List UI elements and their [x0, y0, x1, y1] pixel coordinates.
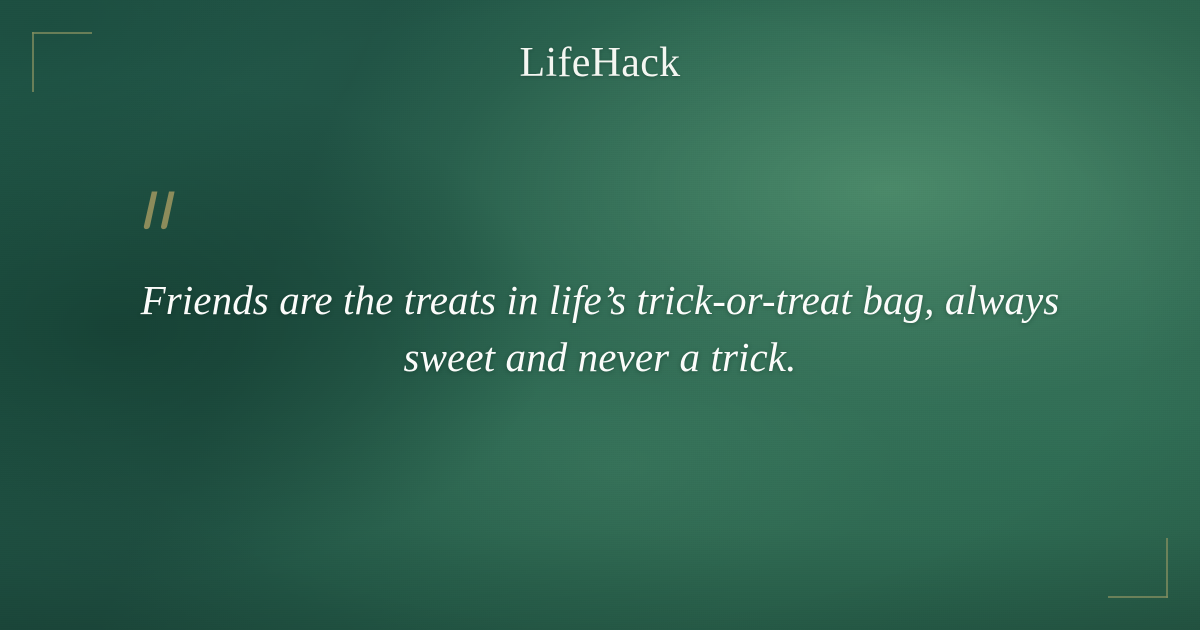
corner-bracket-bottom-right-icon: [1108, 538, 1168, 598]
brand-logo: LifeHack: [0, 40, 1200, 86]
quote-card: LifeHack Friends are the treats in life’…: [0, 0, 1200, 630]
quotation-mark-icon: [138, 190, 184, 242]
quote-text: Friends are the treats in life’s trick-o…: [110, 272, 1090, 386]
